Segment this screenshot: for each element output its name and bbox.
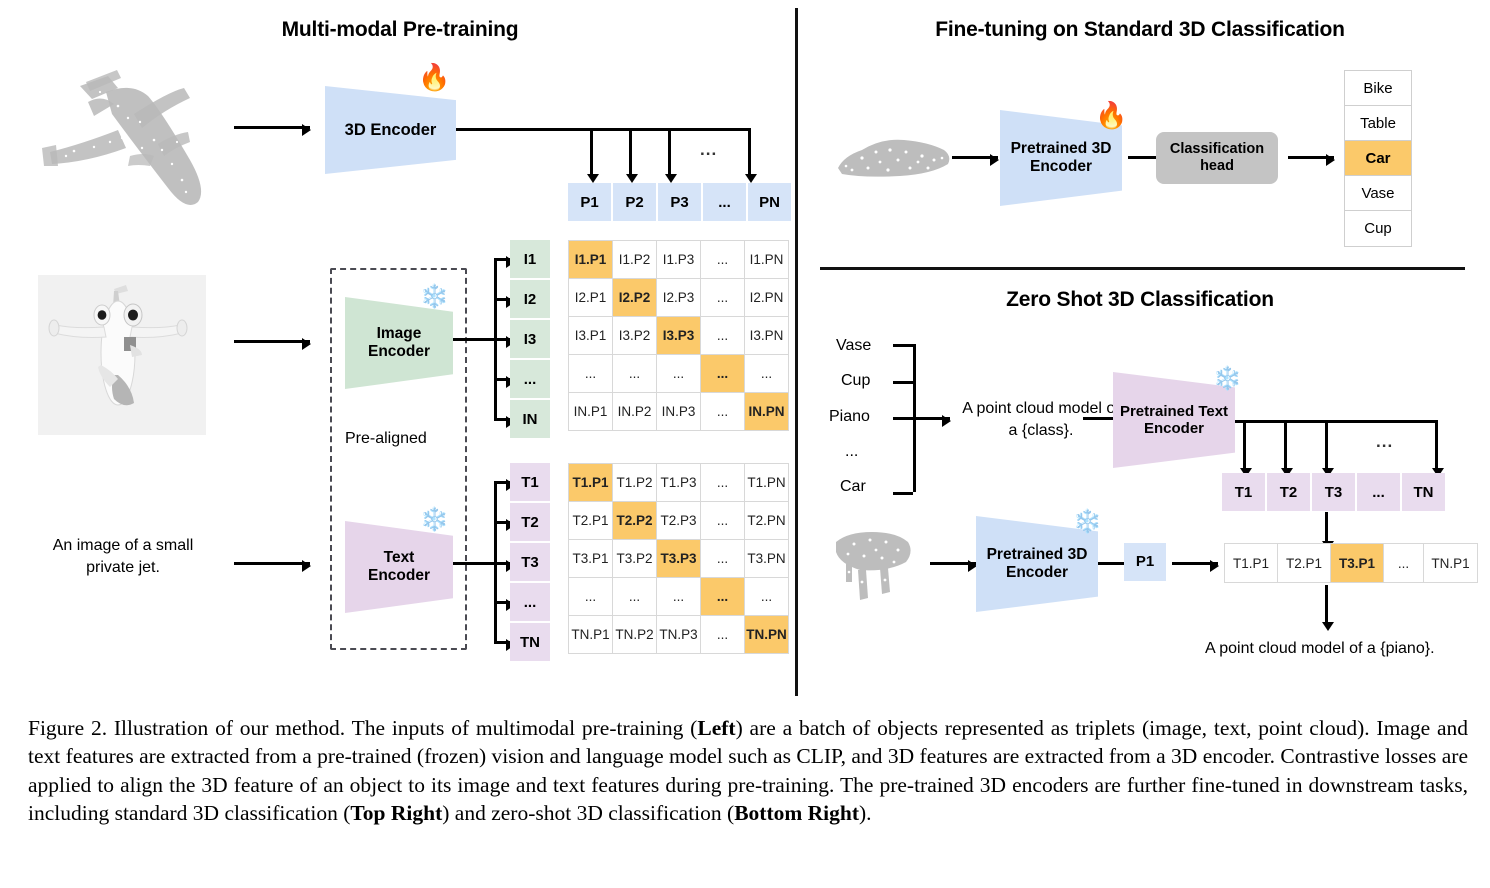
class-bracket-tick	[893, 492, 913, 495]
matrix-cell: I2.PN	[745, 279, 789, 317]
text-label-cell: TN	[510, 623, 550, 661]
arrow-p1-to-scores	[1172, 562, 1218, 565]
matrix-cell: I3.PN	[745, 317, 789, 355]
arrow-to-zs-tn	[1435, 420, 1438, 468]
pre-aligned-label: Pre-aligned	[345, 430, 427, 448]
arrow-scores-to-result	[1325, 585, 1328, 622]
matrix-cell: T1.PN	[745, 464, 789, 502]
matrix-cell: ...	[701, 616, 745, 654]
arrow-pointcloud-to-encoder	[234, 126, 310, 129]
zeroshot-score-row: T1.P1 T2.P1 T3.P1 ... TN.P1	[1224, 543, 1478, 583]
arrow-to-p3	[668, 128, 671, 174]
image-similarity-matrix: I1.P1I1.P2I1.P3...I1.PNI2.P1I2.P2I2.P3..…	[568, 240, 789, 431]
text-feature-cell: T3	[1312, 473, 1355, 511]
point-feature-cell: P2	[613, 183, 656, 221]
zeroshot-text-feature-row: T1 T2 T3 ... TN	[1222, 473, 1445, 511]
zeroshot-class: Cup	[841, 372, 870, 390]
image-label-cell: I3	[510, 320, 550, 358]
point-feature-cell: P1	[568, 183, 611, 221]
score-cell: T2.P1	[1278, 544, 1331, 582]
arrow-car-to-encoder	[952, 156, 998, 159]
text-label-cell: ...	[510, 583, 550, 621]
snowflake-icon: ❄️	[420, 285, 449, 308]
image-label-cell: I1	[510, 240, 550, 278]
point-feature-cell: PN	[748, 183, 791, 221]
text-feature-cell: T2	[1267, 473, 1310, 511]
zeroshot-class: ...	[845, 443, 858, 461]
arrow-to-pn	[748, 128, 751, 174]
matrix-cell-diagonal: I2.P2	[613, 279, 657, 317]
encoder-3d-output-bus	[456, 128, 750, 131]
matrix-cell: T2.P3	[657, 502, 701, 540]
image-label-cell: I2	[510, 280, 550, 318]
arrow-image-to-encoder	[234, 340, 310, 343]
image-label-column: I1 I2 I3 ... IN	[510, 240, 550, 438]
matrix-cell: I1.P3	[657, 241, 701, 279]
text-input-caption: An image of a small private jet.	[20, 535, 226, 578]
matrix-cell: T2.PN	[745, 502, 789, 540]
caption-text: Figure 2. Illustration of our method. Th…	[28, 716, 697, 740]
arrow-piano-to-encoder	[930, 562, 976, 565]
point-feature-cell: ...	[703, 183, 746, 221]
score-cell-selected: T3.P1	[1331, 544, 1384, 582]
matrix-cell: ...	[657, 578, 701, 616]
matrix-cell: TN.P2	[613, 616, 657, 654]
matrix-cell: T1.P3	[657, 464, 701, 502]
classification-head-box: Classification head	[1156, 132, 1278, 184]
zeroshot-class: Vase	[836, 337, 871, 355]
matrix-cell: TN.P1	[569, 616, 613, 654]
snowflake-icon: ❄️	[420, 508, 449, 531]
text-label-cell: T2	[510, 503, 550, 541]
text-fanout-spine	[494, 481, 497, 641]
caption-text: ) and zero-shot 3D classification (	[442, 801, 734, 825]
matrix-cell-diagonal: I1.P1	[569, 241, 613, 279]
matrix-cell: ...	[701, 540, 745, 578]
zeroshot-point-feature-label: P1	[1136, 553, 1154, 570]
score-cell: T1.P1	[1225, 544, 1278, 582]
matrix-cell-diagonal: I3.P3	[657, 317, 701, 355]
bus-ellipsis: ...	[700, 140, 717, 160]
caption-text: ).	[859, 801, 872, 825]
matrix-cell: ...	[701, 502, 745, 540]
matrix-cell: T3.PN	[745, 540, 789, 578]
arrow-to-p1	[590, 128, 593, 174]
point-cloud-car	[828, 128, 956, 188]
matrix-cell-diagonal: IN.PN	[745, 393, 789, 431]
arrow-to-zs-t1	[1243, 420, 1246, 468]
zeroshot-class: Piano	[829, 408, 870, 426]
point-feature-cell: P3	[658, 183, 701, 221]
matrix-cell: I2.P1	[569, 279, 613, 317]
matrix-cell: I3.P1	[569, 317, 613, 355]
encoder-3d-box: 3D Encoder	[325, 86, 456, 174]
finetune-class-list: Bike Table Car Vase Cup	[1344, 70, 1412, 247]
snowflake-icon: ❄️	[1073, 510, 1102, 533]
left-panel-title: Multi-modal Pre-training	[180, 18, 620, 42]
matrix-cell: ...	[745, 578, 789, 616]
arrow-tfeatures-to-scores	[1325, 512, 1328, 541]
matrix-cell-diagonal: ...	[701, 578, 745, 616]
text-label-cell: T1	[510, 463, 550, 501]
matrix-cell: ...	[569, 355, 613, 393]
arrow-classes-to-prompt	[893, 417, 950, 420]
matrix-cell-diagonal: ...	[701, 355, 745, 393]
text-feature-cell: TN	[1402, 473, 1445, 511]
class-item: Bike	[1345, 71, 1411, 106]
arrow-to-p2	[629, 128, 632, 174]
matrix-cell: I2.P3	[657, 279, 701, 317]
matrix-cell: ...	[569, 578, 613, 616]
zeroshot-point-feature: P1	[1124, 543, 1166, 581]
matrix-cell: IN.P1	[569, 393, 613, 431]
matrix-cell-diagonal: T2.P2	[613, 502, 657, 540]
text-encoder-out-line	[453, 562, 495, 565]
matrix-cell: ...	[657, 355, 701, 393]
text-feature-cell: T1	[1222, 473, 1265, 511]
matrix-cell-diagonal: T3.P3	[657, 540, 701, 578]
text-label-column: T1 T2 T3 ... TN	[510, 463, 550, 661]
matrix-cell: I1.P2	[613, 241, 657, 279]
matrix-cell-diagonal: T1.P1	[569, 464, 613, 502]
point-feature-row: P1 P2 P3 ... PN	[568, 183, 791, 221]
horizontal-divider	[820, 267, 1465, 270]
matrix-cell: ...	[701, 279, 745, 317]
classification-head-label: Classification head	[1170, 141, 1264, 174]
fire-icon: 🔥	[1095, 102, 1127, 128]
score-cell: TN.P1	[1424, 544, 1477, 582]
bottom-right-panel-title: Zero Shot 3D Classification	[930, 288, 1350, 312]
matrix-cell: TN.P3	[657, 616, 701, 654]
text-encoder-bus	[1235, 420, 1437, 423]
text-encoder-label: Text Encoder	[368, 549, 430, 585]
class-item: Cup	[1345, 211, 1411, 246]
matrix-cell: I1.PN	[745, 241, 789, 279]
zs-bus-ellipsis: ...	[1376, 432, 1393, 452]
figure-canvas: Multi-modal Pre-training Fine-tuning on …	[0, 0, 1490, 700]
jet-render-image	[38, 275, 206, 435]
matrix-cell: ...	[701, 241, 745, 279]
arrow-head-to-classes	[1288, 156, 1334, 159]
fire-icon: 🔥	[418, 64, 450, 90]
arrow-to-zs-t3	[1325, 420, 1328, 468]
matrix-cell: T3.P1	[569, 540, 613, 578]
matrix-cell: ...	[745, 355, 789, 393]
encoder-3d-label: 3D Encoder	[345, 121, 437, 140]
matrix-cell: T3.P2	[613, 540, 657, 578]
image-encoder-box: Image Encoder	[345, 297, 453, 389]
matrix-cell: ...	[701, 393, 745, 431]
class-item-predicted: Car	[1345, 141, 1411, 176]
caption-emphasis: Bottom Right	[734, 801, 859, 825]
image-label-cell: ...	[510, 360, 550, 398]
matrix-cell: ...	[701, 317, 745, 355]
class-bracket-tick	[893, 381, 913, 384]
text-label-cell: T3	[510, 543, 550, 581]
matrix-cell: T2.P1	[569, 502, 613, 540]
point-cloud-airplane	[22, 52, 237, 227]
figure-caption: Figure 2. Illustration of our method. Th…	[28, 714, 1468, 828]
text-encoder-box: Text Encoder	[345, 521, 453, 613]
top-right-panel-title: Fine-tuning on Standard 3D Classificatio…	[880, 18, 1400, 42]
zeroshot-point-encoder-label: Pretrained 3D Encoder	[987, 546, 1088, 582]
snowflake-icon: ❄️	[1213, 367, 1242, 390]
image-encoder-out-line	[453, 338, 495, 341]
matrix-cell: ...	[613, 355, 657, 393]
point-cloud-piano	[828, 520, 928, 610]
matrix-cell: IN.P3	[657, 393, 701, 431]
image-encoder-label: Image Encoder	[368, 325, 430, 361]
matrix-cell: I3.P2	[613, 317, 657, 355]
zeroshot-class: Car	[840, 478, 866, 496]
arrow-to-zs-t2	[1284, 420, 1287, 468]
arrow-text-to-encoder	[234, 562, 310, 565]
matrix-cell: ...	[613, 578, 657, 616]
text-similarity-matrix: T1.P1T1.P2T1.P3...T1.PNT2.P1T2.P2T2.P3..…	[568, 463, 789, 654]
image-label-cell: IN	[510, 400, 550, 438]
class-bracket-tick	[893, 344, 913, 347]
vertical-divider	[795, 8, 798, 696]
matrix-cell: T1.P2	[613, 464, 657, 502]
text-feature-cell: ...	[1357, 473, 1400, 511]
class-item: Vase	[1345, 176, 1411, 211]
zeroshot-text-encoder-label: Pretrained Text Encoder	[1120, 403, 1228, 438]
matrix-cell-diagonal: TN.PN	[745, 616, 789, 654]
matrix-cell: ...	[701, 464, 745, 502]
caption-emphasis: Top Right	[350, 801, 442, 825]
matrix-cell: IN.P2	[613, 393, 657, 431]
score-cell: ...	[1384, 544, 1424, 582]
zeroshot-result-text: A point cloud model of a {piano}.	[1205, 640, 1435, 658]
caption-emphasis: Left	[697, 716, 735, 740]
class-item: Table	[1345, 106, 1411, 141]
finetune-encoder-label: Pretrained 3D Encoder	[1011, 140, 1112, 176]
